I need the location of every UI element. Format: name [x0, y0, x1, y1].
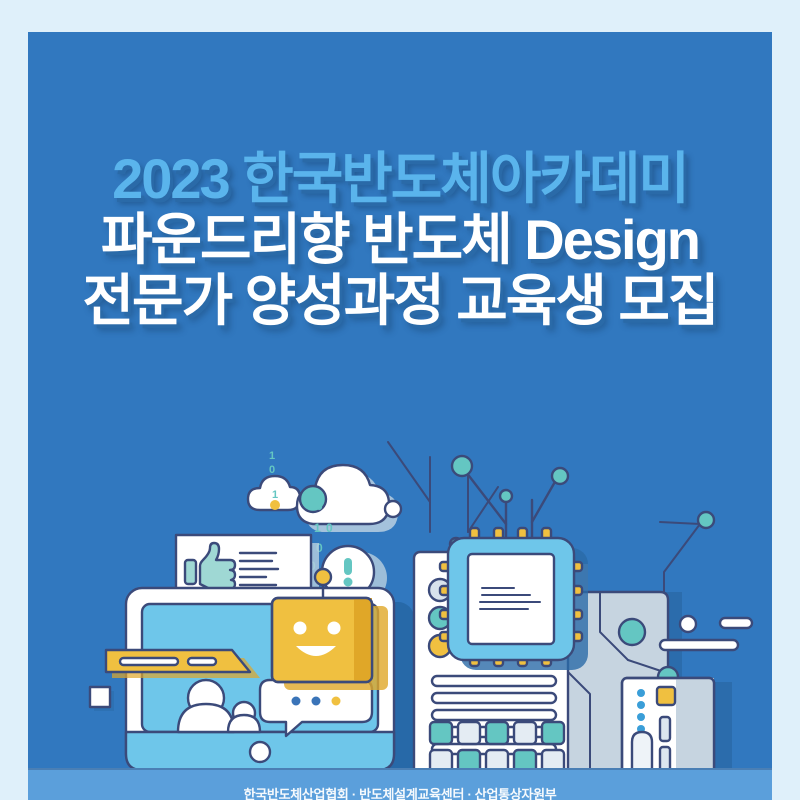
- ground-strip: 한국반도체산업협회 · 반도체설계교육센터 · 산업통상자원부: [28, 768, 772, 800]
- title-line-3: 전문가 양성과정 교육생 모집: [28, 272, 772, 329]
- poster: 1 0 1: [0, 0, 800, 800]
- svg-text:0: 0: [269, 464, 275, 476]
- svg-text:0: 0: [316, 499, 323, 513]
- title-line-1: 2023 한국반도체아카데미: [28, 150, 772, 207]
- title-line-2: 파운드리향 반도체 Design: [28, 211, 772, 268]
- svg-text:0: 0: [326, 521, 333, 535]
- svg-text:1: 1: [269, 450, 275, 462]
- poster-panel: 1 0 1: [28, 32, 772, 800]
- yellow-bar: [106, 650, 260, 678]
- deco-square: [90, 687, 114, 711]
- footer-text: 한국반도체산업협회 · 반도체설계교육센터 · 산업통상자원부: [28, 784, 772, 800]
- svg-text:1: 1: [314, 521, 321, 535]
- microchip: [440, 456, 588, 670]
- poster-title: 2023 한국반도체아카데미 파운드리향 반도체 Design 전문가 양성과정…: [28, 150, 772, 333]
- svg-text:1: 1: [272, 489, 278, 501]
